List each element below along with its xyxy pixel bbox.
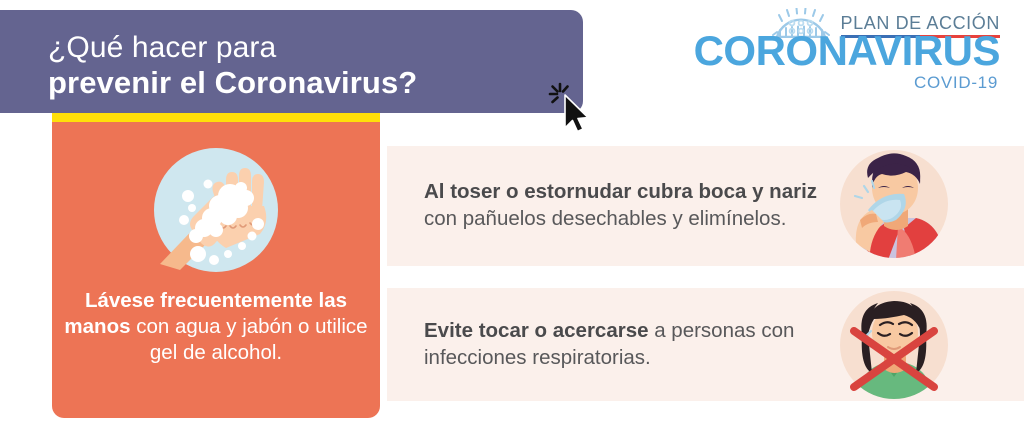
handwashing-text: Lávese frecuentemente las manos con agua… [60,288,372,365]
tip-text-1-rest: con pañuelos desechables y elimínelos. [424,207,786,230]
logo-covid-label: COVID-19 [914,74,998,91]
title-line-1: ¿Qué hacer para [48,32,568,64]
tip-text-1-bold: Al toser o estornudar cubra boca y nariz [424,180,817,203]
click-cursor-icon[interactable] [548,82,594,134]
header-banner: ¿Qué hacer para prevenir el Coronavirus? [0,10,583,113]
tip-text-1: Al toser o estornudar cubra boca y nariz… [424,179,854,232]
tip-text-2: Evite tocar o acercarse a personas con i… [424,318,854,371]
tip-panel-cover-mouth: Al toser o estornudar cubra boca y nariz… [387,146,1024,266]
yellow-accent-bar [52,113,380,122]
title-line-2: prevenir el Coronavirus? [48,67,568,100]
page-title: ¿Qué hacer para prevenir el Coronavirus? [48,32,568,99]
tip-panel-avoid-contact: Evite tocar o acercarse a personas con i… [387,288,1024,401]
infographic-canvas: ¿Qué hacer para prevenir el Coronavirus? [0,0,1024,430]
tip-text-2-bold: Evite tocar o acercarse [424,319,649,342]
person-sick-crossed-out-icon [838,289,950,401]
person-sneezing-tissue-icon [838,148,950,260]
coronavirus-plan-logo: PLAN DE ACCIÓN CORONAVIRUS COVID-19 [708,8,1000,92]
logo-wordmark: CORONAVIRUS [694,30,1000,72]
handwashing-text-rest: con agua y jabón o utilice gel de alcoho… [131,315,368,364]
hands-washing-icon [142,136,290,284]
handwashing-card: Lávese frecuentemente las manos con agua… [52,122,380,418]
